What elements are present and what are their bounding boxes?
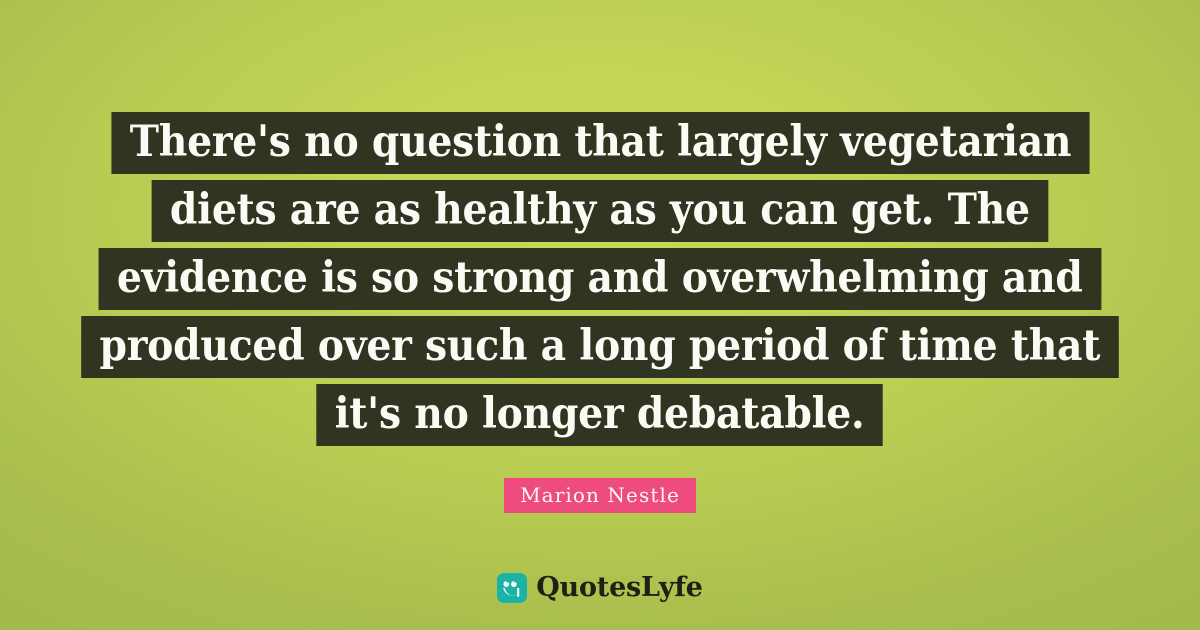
quote-line: diets are as healthy as you can get. The bbox=[152, 180, 1048, 242]
quote-line: evidence is so strong and overwhelming a… bbox=[99, 248, 1101, 310]
quote-text-block: There's no question that largely vegetar… bbox=[0, 112, 1200, 452]
brand-name: QuotesLyfe bbox=[536, 573, 703, 603]
quote-line: it's no longer debatable. bbox=[317, 384, 883, 446]
brand-logo[interactable]: QuotesLyfe bbox=[497, 573, 703, 603]
author-badge: Marion Nestle bbox=[504, 478, 696, 513]
quote-line: There's no question that largely vegetar… bbox=[111, 112, 1089, 174]
quote-card: There's no question that largely vegetar… bbox=[0, 0, 1200, 630]
quote-line: produced over such a long period of time… bbox=[81, 316, 1118, 378]
quotes-smiley-icon bbox=[497, 573, 527, 603]
